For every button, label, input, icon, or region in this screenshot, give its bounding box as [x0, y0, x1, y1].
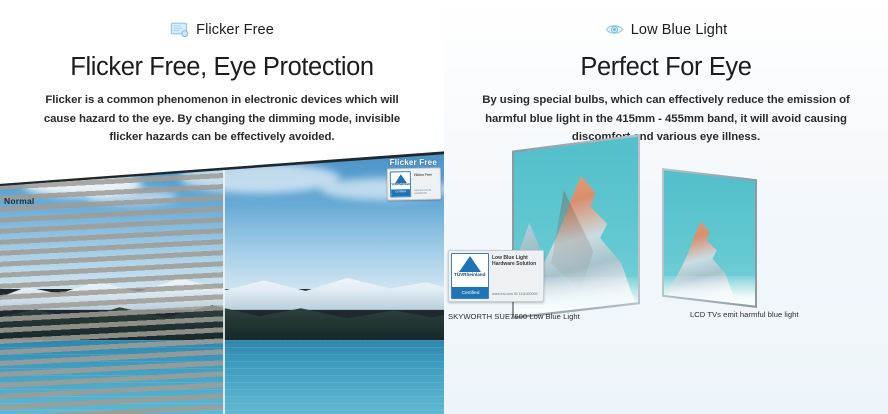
page-title-right: Perfect For Eye: [444, 53, 888, 82]
tuv-logo: TÜVRheinland Certified: [451, 253, 489, 299]
eyebrow-label: Low Blue Light: [631, 22, 728, 38]
tuv-logo: TÜVRheinland Certified: [390, 171, 412, 197]
tuv-certified-text: Certified: [461, 290, 479, 295]
tv-screen: Normal Flicker Free TÜVRheinland Certifi…: [0, 152, 444, 414]
tv-pair: SKYWORTH SUE7600 Low Blue Light LCD TVs …: [444, 128, 888, 338]
badge-text-block: Low Blue Light Hardware Solution www.tuv…: [491, 253, 541, 299]
normal-label: Normal: [4, 196, 35, 206]
description-left: Flicker is a common phenomenon in electr…: [36, 91, 408, 146]
alpine-photo: [664, 170, 755, 306]
comparison-page: Flicker Free Flicker Free, Eye Protectio…: [0, 0, 888, 414]
split-divider: [223, 152, 225, 414]
eyebrow-low-blue-light: Low Blue Light: [444, 20, 888, 39]
tv-standard-lcd: [662, 168, 757, 308]
flicker-comparison-tv: Normal Flicker Free TÜVRheinland Certifi…: [0, 150, 444, 414]
tuv-certification-badge: TÜVRheinland Certified Flicker Free www.…: [387, 167, 442, 200]
tuv-low-blue-light-badge: TÜVRheinland Certified Low Blue Light Ha…: [448, 250, 544, 302]
tuv-brand: TÜVRheinland: [454, 273, 485, 278]
flicker-stripes-overlay: [0, 152, 223, 414]
tuv-certified-bar: Certified: [452, 287, 488, 298]
eyebrow-flicker-free: Flicker Free: [0, 20, 444, 39]
caption-low-blue-light: SKYWORTH SUE7600 Low Blue Light: [448, 312, 580, 321]
page-title-left: Flicker Free, Eye Protection: [0, 53, 444, 82]
badge-title: Low Blue Light Hardware Solution: [492, 255, 540, 268]
badge-text-block: Flicker Free www.tuv.com ID 1111000000: [413, 171, 439, 198]
tuv-certified-text: Certified: [395, 191, 406, 194]
badge-title: Flicker Free: [414, 173, 437, 177]
tv-screen: [664, 170, 755, 306]
badge-subtext: www.tuv.com ID 1111000000: [492, 292, 540, 297]
tuv-certified-bar: Certified: [391, 189, 410, 196]
flicker-free-label: Flicker Free: [390, 158, 437, 167]
badge-subtext: www.tuv.com ID 1111000000: [414, 188, 437, 195]
panel-low-blue-light: Low Blue Light Perfect For Eye By using …: [444, 0, 888, 414]
monitor-screen-icon: [170, 20, 189, 39]
tuv-triangle-icon: [459, 256, 481, 272]
panel-flicker-free: Flicker Free Flicker Free, Eye Protectio…: [0, 0, 444, 414]
eye-icon: [605, 20, 624, 39]
caption-standard-lcd: LCD TVs emit harmful blue light: [690, 310, 799, 319]
eyebrow-label: Flicker Free: [196, 22, 274, 38]
tuv-brand: TÜVRheinland: [390, 184, 412, 188]
